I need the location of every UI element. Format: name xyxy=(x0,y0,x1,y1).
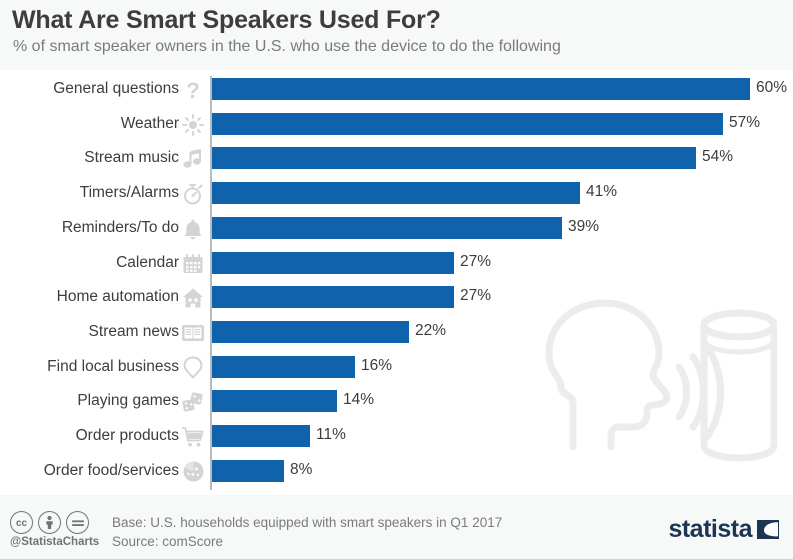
bar-value-label: 14% xyxy=(343,391,374,409)
dice-icon xyxy=(181,390,205,414)
bar xyxy=(212,390,337,412)
bar-row: Playing games 14% xyxy=(0,388,793,422)
creative-commons-block: cc @StatistaCharts xyxy=(10,511,106,548)
bar xyxy=(212,425,310,447)
statista-infographic: What Are Smart Speakers Used For? % of s… xyxy=(0,0,793,559)
bar-row: Stream news xyxy=(0,319,793,353)
footer-notes: Base: U.S. households equipped with smar… xyxy=(112,513,502,551)
bar-row: Order products 11% xyxy=(0,423,793,457)
category-label: Timers/Alarms xyxy=(0,184,179,202)
shopping-cart-icon xyxy=(181,425,205,449)
bar-value-label: 27% xyxy=(460,287,491,305)
bar-row: General questions ? 60% xyxy=(0,76,793,110)
stopwatch-icon xyxy=(181,182,205,206)
bar-row: Order food/services 8% xyxy=(0,458,793,492)
bar xyxy=(212,147,696,169)
bar-row: Weather 57% xyxy=(0,111,793,145)
category-label: Stream news xyxy=(0,323,179,341)
bar-row: Timers/Alarms 41% xyxy=(0,180,793,214)
bar-value-label: 16% xyxy=(361,357,392,375)
bar xyxy=(212,321,409,343)
footer: cc @StatistaCharts Base: U.S. xyxy=(0,495,793,559)
base-note: Base: U.S. households equipped with smar… xyxy=(112,513,502,532)
bar-row: Stream music 54% xyxy=(0,145,793,179)
statista-wordmark: statista xyxy=(668,517,752,542)
category-label: Order food/services xyxy=(0,462,179,480)
house-icon xyxy=(181,286,205,310)
statista-charts-handle: @StatistaCharts xyxy=(10,536,106,548)
svg-text:cc: cc xyxy=(16,518,28,528)
pizza-icon xyxy=(181,460,205,484)
category-label: Find local business xyxy=(0,358,179,376)
statista-logo-mark xyxy=(755,517,781,542)
category-label: Reminders/To do xyxy=(0,219,179,237)
no-derivatives-equals-icon xyxy=(66,511,89,534)
calendar-icon xyxy=(181,252,205,276)
bar-row: Reminders/To do 39% xyxy=(0,215,793,249)
bar-value-label: 22% xyxy=(415,322,446,340)
bar xyxy=(212,182,580,204)
header: What Are Smart Speakers Used For? % of s… xyxy=(0,0,793,70)
bar xyxy=(212,356,355,378)
creative-commons-icon: cc xyxy=(10,511,33,534)
bar-row: Calendar 27 xyxy=(0,250,793,284)
question-mark-icon: ? xyxy=(181,78,205,102)
bar xyxy=(212,286,454,308)
svg-text:?: ? xyxy=(186,79,199,101)
bar xyxy=(212,460,284,482)
bar-chart: General questions ? 60% Weather 57% xyxy=(0,70,793,495)
newspaper-icon xyxy=(181,321,205,345)
category-label: Weather xyxy=(0,115,179,133)
bar-value-label: 39% xyxy=(568,218,599,236)
bar xyxy=(212,252,454,274)
attribution-person-icon xyxy=(38,511,61,534)
bar-value-label: 57% xyxy=(729,114,760,132)
music-note-icon xyxy=(181,147,205,171)
category-label: Order products xyxy=(0,427,179,445)
category-label: General questions xyxy=(0,80,179,98)
page-subtitle: % of smart speaker owners in the U.S. wh… xyxy=(13,38,561,56)
category-label: Home automation xyxy=(0,288,179,306)
bar-value-label: 11% xyxy=(316,426,346,444)
bar-value-label: 8% xyxy=(290,461,312,479)
category-label: Calendar xyxy=(0,254,179,272)
bar xyxy=(212,113,723,135)
category-label: Stream music xyxy=(0,149,179,167)
bar-value-label: 27% xyxy=(460,253,491,271)
page-title: What Are Smart Speakers Used For? xyxy=(12,6,441,35)
bar xyxy=(212,217,562,239)
bar-row: Find local business 16% xyxy=(0,354,793,388)
bar-row: Home automation 27% xyxy=(0,284,793,318)
statista-logo: statista xyxy=(668,517,781,542)
bar-value-label: 41% xyxy=(586,183,617,201)
map-pin-icon xyxy=(181,356,205,380)
sun-icon xyxy=(181,113,205,137)
bar-value-label: 60% xyxy=(756,79,787,97)
bar xyxy=(212,78,750,100)
category-label: Playing games xyxy=(0,392,179,410)
bar-value-label: 54% xyxy=(702,148,733,166)
bell-icon xyxy=(181,217,205,241)
source-note: Source: comScore xyxy=(112,532,502,551)
